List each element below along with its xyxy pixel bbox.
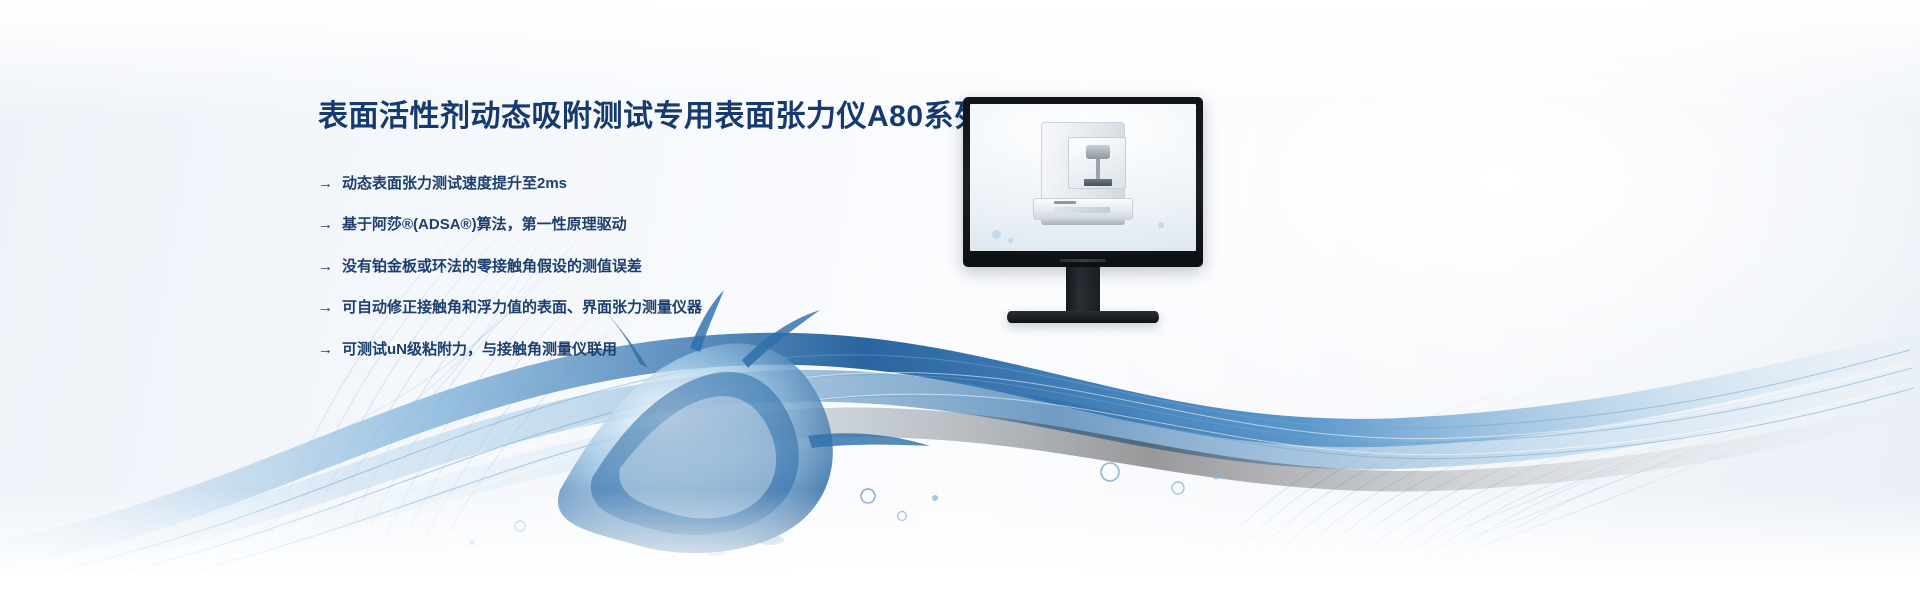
list-item-label: 可自动修正接触角和浮力值的表面、界面张力测量仪器 bbox=[342, 298, 702, 318]
list-item-label: 动态表面张力测试速度提升至2ms bbox=[342, 174, 567, 194]
list-item: → 没有铂金板或环法的零接触角假设的测值误差 bbox=[318, 257, 998, 277]
list-item: → 可测试uN级粘附力，与接触角测量仪联用 bbox=[318, 340, 998, 360]
instrument-feet bbox=[1041, 220, 1125, 225]
list-item: → 动态表面张力测试速度提升至2ms bbox=[318, 174, 998, 194]
product-monitor bbox=[963, 97, 1203, 323]
monitor-bezel bbox=[963, 97, 1203, 267]
instrument-brand-mark bbox=[1054, 201, 1076, 204]
instrument-probe-stem bbox=[1096, 159, 1100, 181]
instrument-base bbox=[1033, 198, 1133, 220]
monitor-screen bbox=[970, 104, 1196, 251]
instrument-sample-cup bbox=[1086, 145, 1110, 159]
list-item: → 可自动修正接触角和浮力值的表面、界面张力测量仪器 bbox=[318, 298, 998, 318]
page-title: 表面活性剂动态吸附测试专用表面张力仪A80系列 bbox=[318, 98, 998, 136]
instrument-sample-stage bbox=[1084, 179, 1112, 186]
feature-list: → 动态表面张力测试速度提升至2ms → 基于阿莎®(ADSA®)算法，第一性原… bbox=[318, 174, 998, 360]
bottom-fade-overlay bbox=[0, 490, 1920, 600]
list-item-label: 没有铂金板或环法的零接触角假设的测值误差 bbox=[342, 257, 642, 277]
hero-banner: 表面活性剂动态吸附测试专用表面张力仪A80系列 → 动态表面张力测试速度提升至2… bbox=[0, 0, 1920, 600]
tensiometer-instrument-image bbox=[1027, 118, 1139, 238]
instrument-chamber bbox=[1041, 122, 1125, 200]
screen-bubble-decoration bbox=[1008, 238, 1013, 243]
arrow-right-icon: → bbox=[318, 215, 333, 235]
monitor-power-strip bbox=[1060, 259, 1106, 262]
screen-bubble-decoration bbox=[1158, 222, 1164, 228]
hero-copy-block: 表面活性剂动态吸附测试专用表面张力仪A80系列 → 动态表面张力测试速度提升至2… bbox=[318, 98, 998, 359]
screen-bubble-decoration bbox=[992, 230, 1001, 239]
arrow-right-icon: → bbox=[318, 257, 333, 277]
list-item: → 基于阿莎®(ADSA®)算法，第一性原理驱动 bbox=[318, 215, 998, 235]
list-item-label: 可测试uN级粘附力，与接触角测量仪联用 bbox=[342, 340, 617, 360]
monitor-stand-neck bbox=[1066, 267, 1100, 311]
arrow-right-icon: → bbox=[318, 174, 333, 194]
arrow-right-icon: → bbox=[318, 298, 333, 318]
instrument-control-panel bbox=[1054, 207, 1110, 213]
monitor-stand-base bbox=[1007, 311, 1159, 323]
list-item-label: 基于阿莎®(ADSA®)算法，第一性原理驱动 bbox=[342, 215, 627, 235]
arrow-right-icon: → bbox=[318, 340, 333, 360]
